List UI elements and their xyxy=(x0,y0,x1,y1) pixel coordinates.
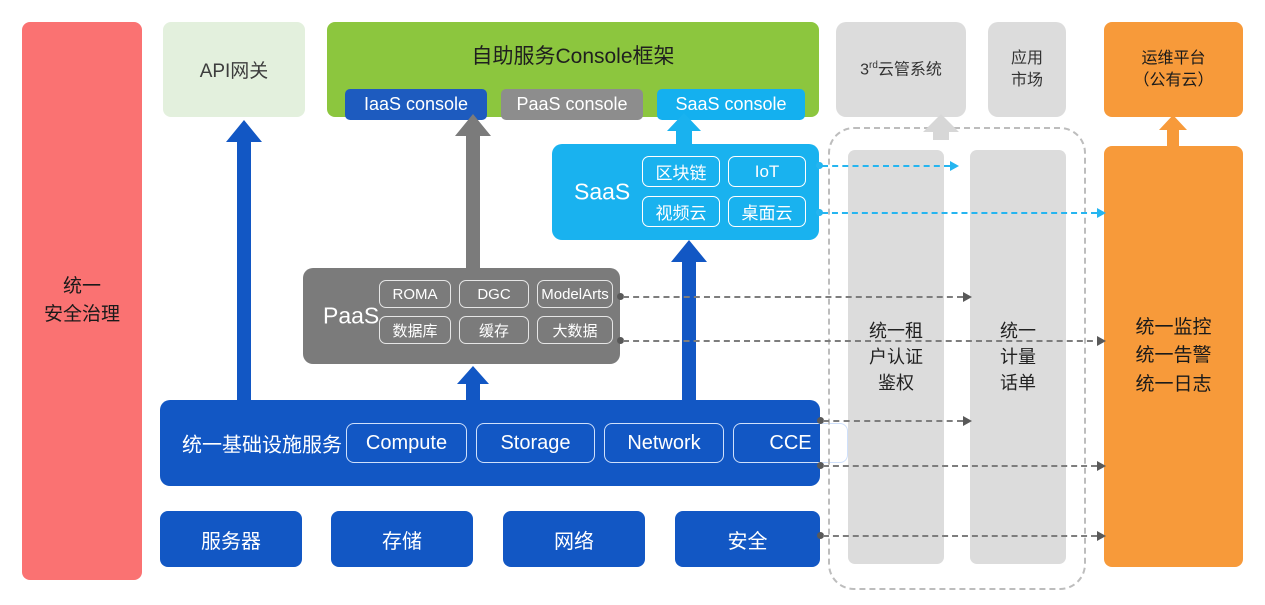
paas-chip-modelarts[interactable]: ModelArts xyxy=(537,280,613,308)
arrowhead-infra-to-ops xyxy=(1097,461,1106,471)
panel-app-market[interactable]: 应用 市场 xyxy=(988,22,1066,117)
panel-api-gateway[interactable]: API网关 xyxy=(163,22,305,117)
paas-chip-bigdata[interactable]: 大数据 xyxy=(537,316,613,344)
dashed-line-saas-to-metering xyxy=(822,165,950,167)
ops-line-2: 统一告警 xyxy=(1135,342,1211,371)
saas-layer-label: SaaS xyxy=(574,179,630,206)
paas-chip-database[interactable]: 数据库 xyxy=(379,316,451,344)
security-line-1: 统一 xyxy=(63,273,101,301)
ops-top-line-2: （公有云） xyxy=(1133,70,1213,92)
arrowhead-saas-to-ops xyxy=(1097,208,1106,218)
security-line-2: 安全治理 xyxy=(44,301,120,329)
saas-chip-desktop-cloud[interactable]: 桌面云 xyxy=(728,196,806,227)
architecture-diagram: 统一 安全治理 API网关 自助服务Console框架 IaaS console… xyxy=(0,0,1265,605)
panel-console-framework[interactable]: 自助服务Console框架 IaaS console PaaS console … xyxy=(327,22,819,117)
arrowhead-paas-to-ops xyxy=(1097,336,1106,346)
arrowhead-hardware-to-ops xyxy=(1097,531,1106,541)
panel-ops-platform-public-cloud[interactable]: 运维平台 （公有云） xyxy=(1104,22,1243,117)
paas-layer-label: PaaS xyxy=(323,303,379,330)
app-market-line-2: 市场 xyxy=(1011,70,1043,92)
dashed-line-paas-to-auth xyxy=(623,296,963,298)
auth-line-3: 鉴权 xyxy=(878,370,914,396)
cloud-mgmt-suffix: 云管系统 xyxy=(878,61,942,78)
layer-paas[interactable]: PaaS ROMA DGC ModelArts 数据库 缓存 大数据 xyxy=(303,268,620,364)
infra-chip-network[interactable]: Network xyxy=(604,423,724,463)
saas-chip-video-cloud[interactable]: 视频云 xyxy=(642,196,720,227)
dashed-line-infra-to-metering xyxy=(823,420,963,422)
dashed-line-saas-to-ops xyxy=(822,212,1097,214)
metering-line-3: 话单 xyxy=(1000,370,1036,396)
app-market-line-1: 应用 xyxy=(1011,48,1043,70)
saas-chip-blockchain[interactable]: 区块链 xyxy=(642,156,720,187)
paas-chip-cache[interactable]: 缓存 xyxy=(459,316,529,344)
arrowhead-paas-to-metering xyxy=(963,292,972,302)
chip-paas-console[interactable]: PaaS console xyxy=(501,89,643,120)
ops-line-1: 统一监控 xyxy=(1135,314,1211,343)
hw-box-security[interactable]: 安全 xyxy=(675,511,820,567)
infra-layer-label: 统一基础设施服务 xyxy=(182,429,342,458)
arrow-paas-to-console xyxy=(454,114,492,270)
infra-chip-storage[interactable]: Storage xyxy=(476,423,595,463)
dashed-line-infra-to-ops xyxy=(823,465,1097,467)
paas-chip-roma[interactable]: ROMA xyxy=(379,280,451,308)
cloud-mgmt-prefix: 3 xyxy=(860,61,869,78)
dashed-line-paas-to-ops xyxy=(623,340,1103,342)
arrow-shared-to-cloud-mgmt xyxy=(922,114,960,140)
arrow-infra-to-paas xyxy=(456,366,490,402)
paas-chip-dgc[interactable]: DGC xyxy=(459,280,529,308)
metering-line-2: 计量 xyxy=(1000,344,1036,370)
arrow-infra-to-api-gateway xyxy=(225,120,263,404)
layer-unified-infrastructure[interactable]: 统一基础设施服务 Compute Storage Network CCE xyxy=(160,400,820,486)
panel-unified-security[interactable]: 统一 安全治理 xyxy=(22,22,142,580)
panel-third-party-cloud-mgmt[interactable]: 3rd云管系统 xyxy=(836,22,966,117)
cloud-mgmt-superscript: rd xyxy=(869,60,878,71)
arrowhead-infra-to-metering xyxy=(963,416,972,426)
panel-unified-ops[interactable]: 统一监控 统一告警 统一日志 xyxy=(1104,146,1243,567)
arrow-saas-to-saas-console xyxy=(666,113,702,147)
infra-chip-compute[interactable]: Compute xyxy=(346,423,467,463)
dashed-line-hardware-to-ops xyxy=(823,535,1097,537)
api-gateway-label: API网关 xyxy=(200,56,269,83)
hw-box-server[interactable]: 服务器 xyxy=(160,511,302,567)
arrow-infra-to-saas xyxy=(670,240,708,402)
hw-box-storage[interactable]: 存储 xyxy=(331,511,473,567)
console-framework-title: 自助服务Console框架 xyxy=(327,40,819,70)
auth-line-2: 户认证 xyxy=(869,344,923,370)
cloud-mgmt-label: 3rd云管系统 xyxy=(860,59,942,81)
ops-top-line-1: 运维平台 xyxy=(1141,48,1205,70)
arrow-shared-to-ops-platform xyxy=(1158,115,1188,147)
layer-saas[interactable]: SaaS 区块链 IoT 视频云 桌面云 xyxy=(552,144,819,240)
ops-line-3: 统一日志 xyxy=(1135,371,1211,400)
hw-box-network[interactable]: 网络 xyxy=(503,511,645,567)
arrowhead-saas-to-metering xyxy=(950,161,959,171)
saas-chip-iot[interactable]: IoT xyxy=(728,156,806,187)
